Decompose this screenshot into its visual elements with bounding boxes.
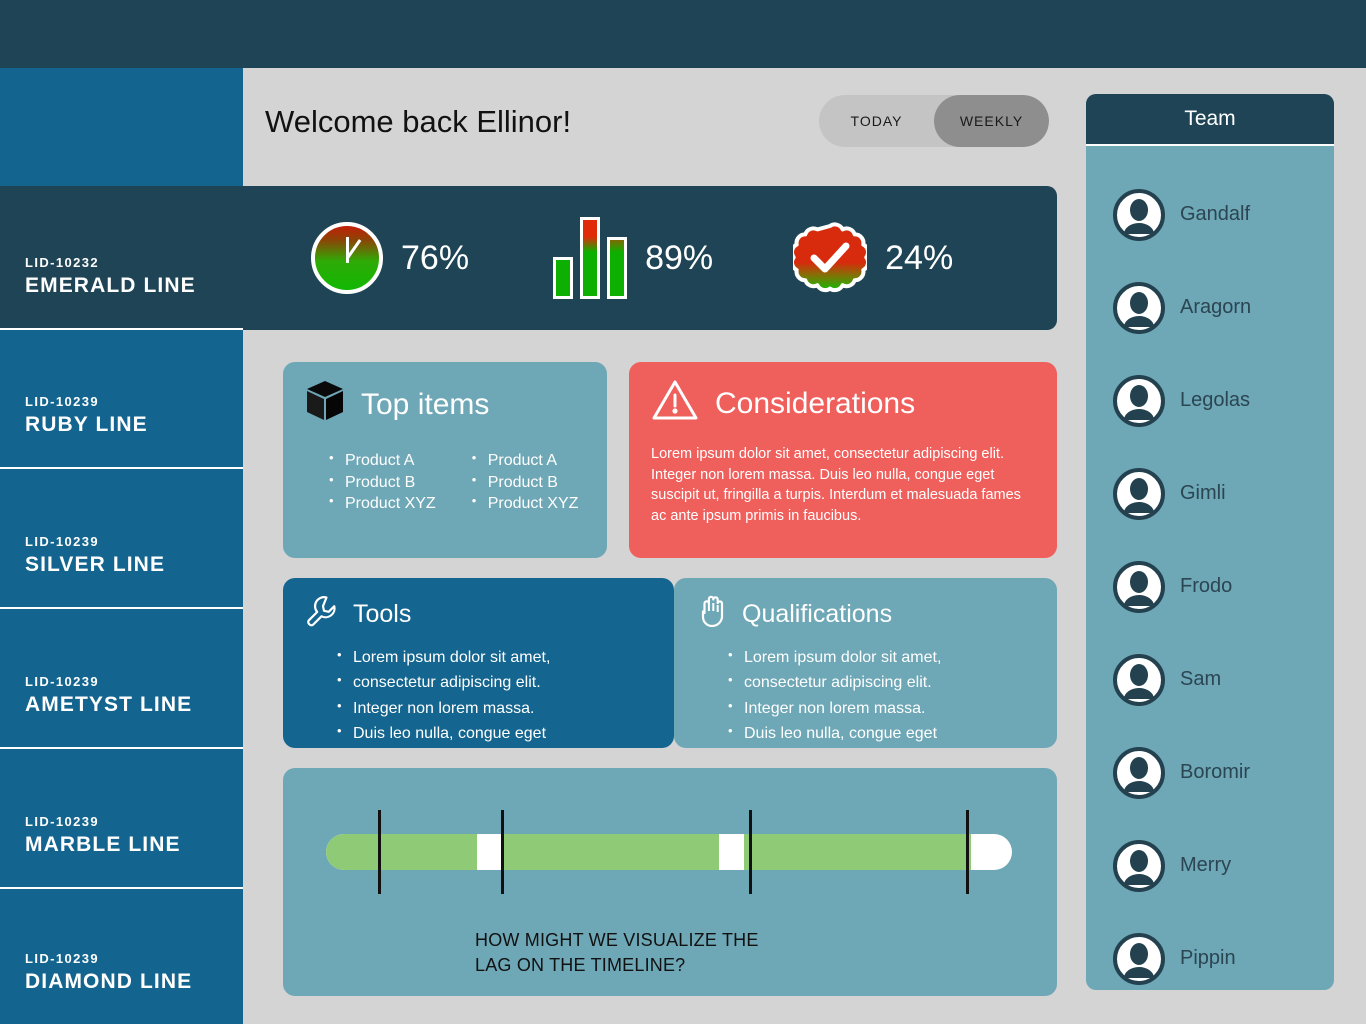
clock-icon [311, 222, 383, 294]
timeframe-toggle[interactable]: TODAY WEEKLY [819, 95, 1049, 147]
sidebar-item-label: RUBY LINE [25, 413, 243, 437]
hand-icon [696, 594, 728, 635]
sidebar-item-diamond-line[interactable]: LID-10239 DIAMOND LINE [0, 889, 243, 1024]
timeline-tick [501, 810, 504, 894]
timeline-segment [326, 834, 477, 870]
team-member-frodo[interactable]: Frodo [1112, 540, 1334, 633]
team-member-gandalf[interactable]: Gandalf [1112, 168, 1334, 261]
sidebar-item-label: AMETYST LINE [25, 693, 243, 717]
sidebar-item-id: LID-10232 [25, 255, 243, 270]
team-member-name: Frodo [1180, 575, 1232, 598]
team-panel-title: Team [1086, 94, 1334, 146]
page-title: Welcome back Ellinor! [265, 104, 571, 140]
timeline-card: HOW MIGHT WE VISUALIZE THE LAG ON THE TI… [283, 768, 1057, 996]
list-item: Lorem ipsum dolor sit amet, [337, 645, 652, 670]
top-items-column-2: Product A Product B Product XYZ [472, 450, 579, 515]
qualifications-card: Qualifications Lorem ipsum dolor sit ame… [674, 578, 1057, 748]
avatar [1112, 746, 1166, 800]
avatar [1112, 374, 1166, 428]
tools-title: Tools [353, 600, 411, 629]
team-list: Gandalf Aragorn Legolas [1086, 146, 1334, 990]
sidebar-item-marble-line[interactable]: LID-10239 MARBLE LINE [0, 749, 243, 889]
kpi-value: 76% [401, 239, 469, 278]
cards-row-top: Top items Product A Product B Product XY… [283, 362, 1057, 558]
qualifications-list: Lorem ipsum dolor sit amet, consectetur … [696, 645, 1035, 746]
list-item: Product A [329, 450, 436, 472]
sidebar-item-label: SILVER LINE [25, 553, 243, 577]
top-items-lists: Product A Product B Product XYZ Product … [305, 450, 585, 515]
list-item: Duis leo nulla, congue eget [337, 721, 652, 746]
sidebar: LID-10232 EMERALD LINE LID-10239 RUBY LI… [0, 68, 243, 1024]
team-member-name: Legolas [1180, 389, 1250, 412]
bar-chart-icon [553, 217, 627, 299]
sidebar-item-ruby-line[interactable]: LID-10239 RUBY LINE [0, 330, 243, 469]
team-member-pippin[interactable]: Pippin [1112, 912, 1334, 990]
sidebar-item-id: LID-10239 [25, 674, 243, 689]
team-member-name: Aragorn [1180, 296, 1251, 319]
avatar [1112, 653, 1166, 707]
top-items-header: Top items [305, 380, 585, 430]
timeline-caption-line-2: LAG ON THE TIMELINE? [475, 953, 759, 978]
kpi-value: 24% [885, 239, 953, 278]
considerations-title: Considerations [715, 387, 915, 421]
team-member-merry[interactable]: Merry [1112, 819, 1334, 912]
timeline-segment [744, 834, 971, 870]
timeline-track [326, 834, 1012, 870]
list-item: Product XYZ [472, 493, 579, 515]
list-item: Integer non lorem massa. [728, 696, 1035, 721]
sidebar-item-id: LID-10239 [25, 534, 243, 549]
sidebar-item-emerald-line[interactable]: LID-10232 EMERALD LINE [0, 186, 243, 330]
top-items-column-1: Product A Product B Product XYZ [329, 450, 436, 515]
list-item: Integer non lorem massa. [337, 696, 652, 721]
sidebar-item-id: LID-10239 [25, 951, 243, 966]
list-item: Lorem ipsum dolor sit amet, [728, 645, 1035, 670]
timeline-caption: HOW MIGHT WE VISUALIZE THE LAG ON THE TI… [475, 928, 759, 978]
team-member-name: Pippin [1180, 947, 1236, 970]
sidebar-item-silver-line[interactable]: LID-10239 SILVER LINE [0, 469, 243, 609]
toggle-option-weekly[interactable]: WEEKLY [934, 95, 1049, 147]
timeline-caption-line-1: HOW MIGHT WE VISUALIZE THE [475, 928, 759, 953]
warning-triangle-icon [651, 378, 699, 430]
considerations-card: Considerations Lorem ipsum dolor sit ame… [629, 362, 1057, 558]
qualifications-title: Qualifications [742, 600, 892, 629]
team-member-legolas[interactable]: Legolas [1112, 354, 1334, 447]
list-item: Product A [472, 450, 579, 472]
tools-card: Tools Lorem ipsum dolor sit amet, consec… [283, 578, 674, 748]
considerations-body: Lorem ipsum dolor sit amet, consectetur … [651, 444, 1035, 526]
team-member-name: Gimli [1180, 482, 1226, 505]
qualifications-header: Qualifications [696, 594, 1035, 635]
cards-row-middle: Tools Lorem ipsum dolor sit amet, consec… [283, 578, 1057, 748]
timeline-tick [749, 810, 752, 894]
kpi-output: 89% [553, 217, 713, 299]
avatar [1112, 281, 1166, 335]
kpi-value: 89% [645, 239, 713, 278]
tools-list: Lorem ipsum dolor sit amet, consectetur … [305, 645, 652, 746]
team-member-name: Merry [1180, 854, 1231, 877]
sidebar-spacer [0, 68, 243, 186]
team-member-name: Sam [1180, 668, 1221, 691]
list-item: consectetur adipiscing elit. [728, 670, 1035, 695]
kpi-on-time: 76% [311, 222, 469, 294]
list-item: Product B [329, 472, 436, 494]
kpi-band: 76% 89% [243, 186, 1057, 330]
main-content: Top items Product A Product B Product XY… [283, 362, 1057, 996]
team-member-name: Boromir [1180, 761, 1250, 784]
avatar [1112, 467, 1166, 521]
sidebar-item-label: MARBLE LINE [25, 833, 243, 857]
sidebar-item-id: LID-10239 [25, 394, 243, 409]
wrench-icon [305, 594, 339, 635]
team-panel: Team Gandalf Aragorn [1086, 94, 1334, 990]
timeline-tick [378, 810, 381, 894]
sidebar-item-label: EMERALD LINE [25, 274, 243, 298]
sidebar-item-id: LID-10239 [25, 814, 243, 829]
considerations-header: Considerations [651, 378, 1035, 430]
team-member-aragorn[interactable]: Aragorn [1112, 261, 1334, 354]
avatar [1112, 188, 1166, 242]
list-item: Duis leo nulla, congue eget [728, 721, 1035, 746]
team-member-boromir[interactable]: Boromir [1112, 726, 1334, 819]
box-icon [305, 380, 345, 430]
timeline-tick [966, 810, 969, 894]
verified-badge-icon [793, 221, 867, 295]
team-member-gimli[interactable]: Gimli [1112, 447, 1334, 540]
list-item: Product B [472, 472, 579, 494]
avatar [1112, 560, 1166, 614]
list-item: consectetur adipiscing elit. [337, 670, 652, 695]
toggle-option-today[interactable]: TODAY [819, 95, 934, 147]
timeline-segment [503, 834, 719, 870]
avatar [1112, 932, 1166, 986]
avatar [1112, 839, 1166, 893]
top-items-title: Top items [361, 388, 489, 422]
team-member-sam[interactable]: Sam [1112, 633, 1334, 726]
tools-header: Tools [305, 594, 652, 635]
sidebar-item-label: DIAMOND LINE [25, 970, 243, 994]
top-items-card: Top items Product A Product B Product XY… [283, 362, 607, 558]
team-member-name: Gandalf [1180, 203, 1250, 226]
dashboard-root: LID-10232 EMERALD LINE LID-10239 RUBY LI… [0, 0, 1366, 1024]
kpi-quality: 24% [793, 221, 953, 295]
top-bar [0, 0, 1366, 68]
sidebar-item-ametyst-line[interactable]: LID-10239 AMETYST LINE [0, 609, 243, 749]
list-item: Product XYZ [329, 493, 436, 515]
